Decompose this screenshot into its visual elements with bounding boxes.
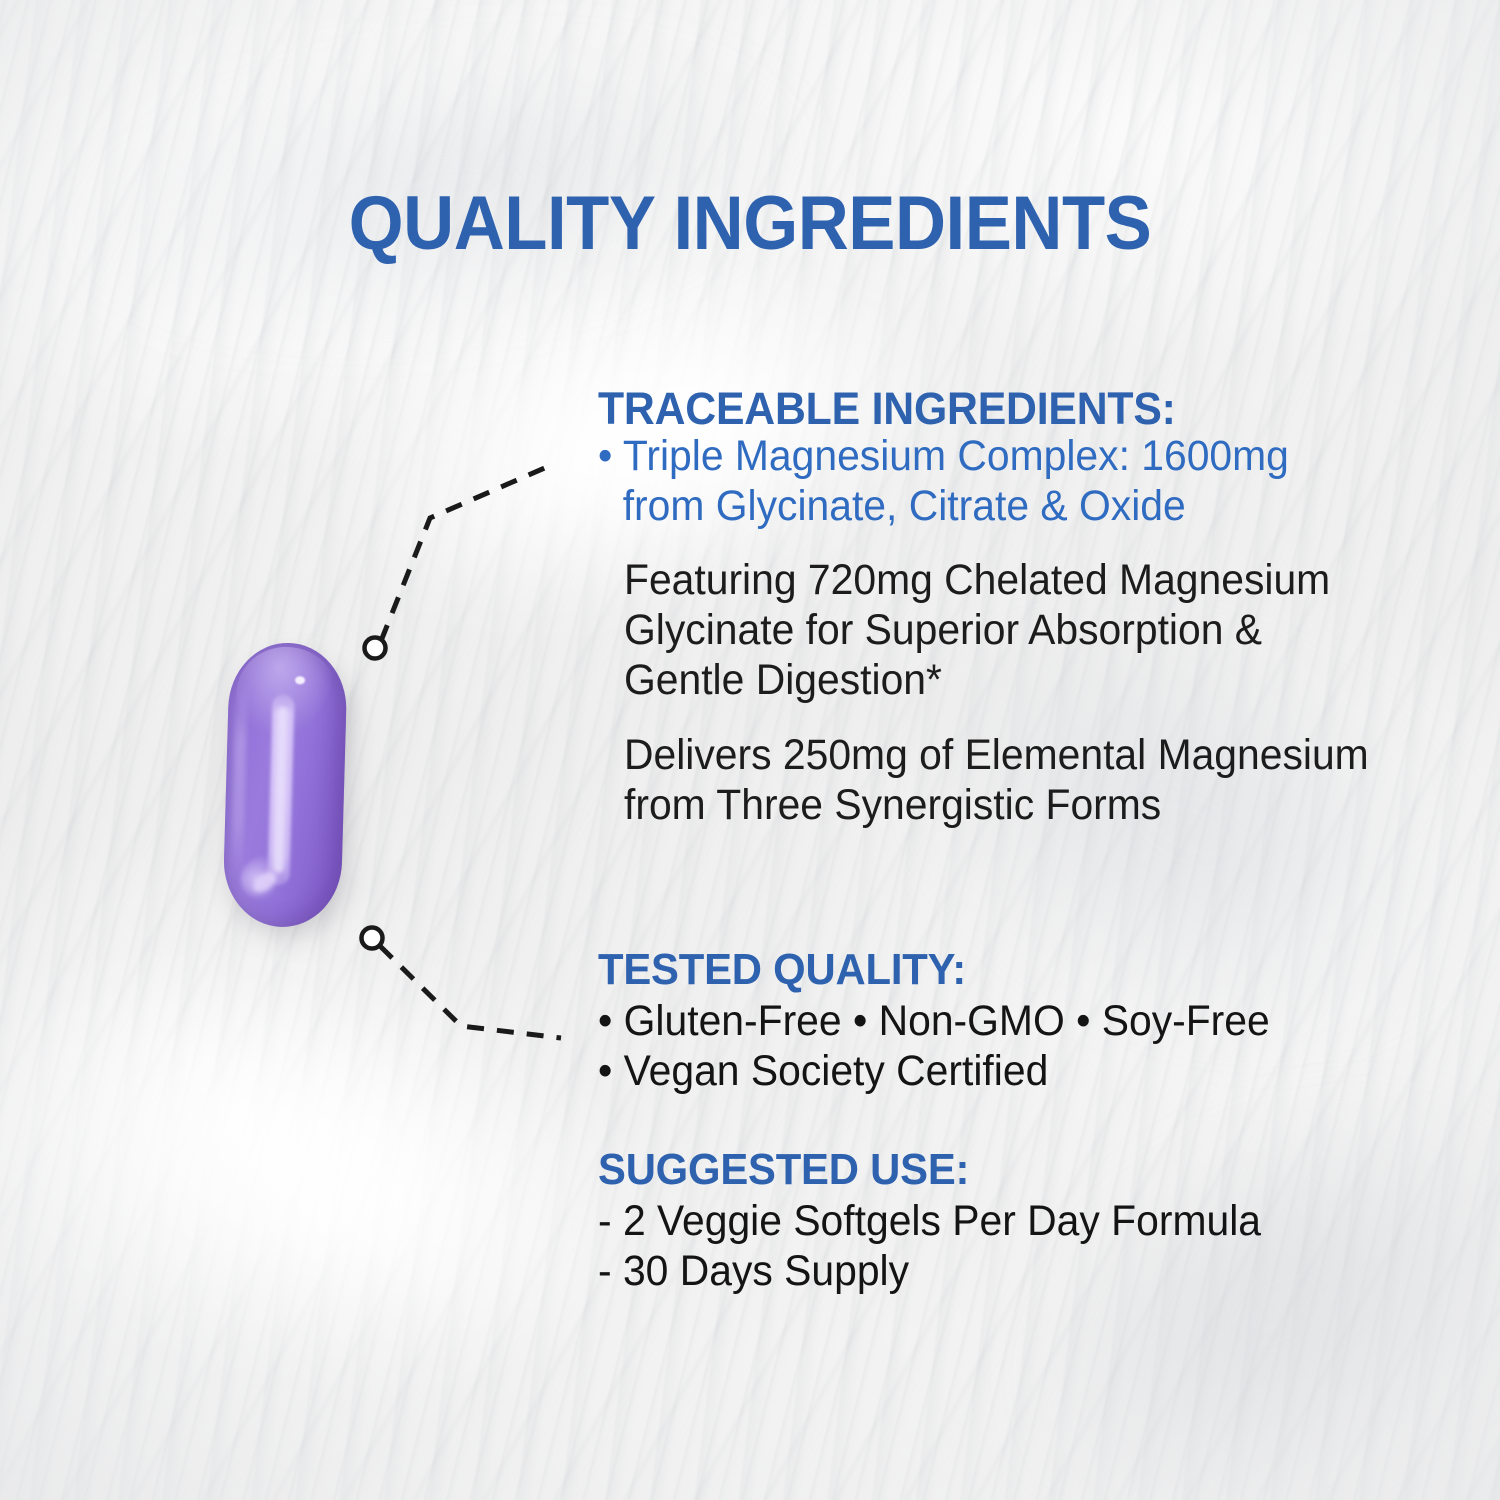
section-heading-tested: TESTED QUALITY: (598, 948, 1270, 993)
traceable-detail-line-2: Glycinate for Superior Absorption & (624, 606, 1330, 656)
section-traceable-detail: Featuring 720mg Chelated Magnesium Glyci… (624, 556, 1367, 706)
traceable-delivers-line-1: Delivers 250mg of Elemental Magnesium (624, 731, 1369, 781)
section-traceable-ingredients: TRACEABLE INGREDIENTS: • Triple Magnesiu… (598, 386, 1325, 532)
capsule-image (222, 641, 354, 936)
traceable-bullet-line-2: from Glycinate, Citrate & Oxide (598, 482, 1289, 532)
traceable-delivers-line-2: from Three Synergistic Forms (624, 781, 1369, 831)
traceable-detail-line-3: Gentle Digestion* (624, 656, 1330, 706)
tested-line-1: • Gluten-Free • Non-GMO • Soy-Free (598, 997, 1270, 1047)
tested-line-2: • Vegan Society Certified (598, 1047, 1270, 1097)
page-title: QUALITY INGREDIENTS (53, 186, 1448, 262)
section-traceable-delivers: Delivers 250mg of Elemental Magnesium fr… (624, 731, 1408, 831)
section-heading-suggested: SUGGESTED USE: (598, 1148, 1261, 1193)
traceable-detail-line-1: Featuring 720mg Chelated Magnesium (624, 556, 1330, 606)
infographic-canvas: QUALITY INGREDIENTS TRACEABLE INGREDIENT… (0, 0, 1500, 1500)
section-heading-traceable: TRACEABLE INGREDIENTS: (598, 386, 1289, 432)
suggested-line-2: - 30 Days Supply (598, 1247, 1261, 1297)
suggested-line-1: - 2 Veggie Softgels Per Day Formula (598, 1197, 1261, 1247)
section-tested-quality: TESTED QUALITY: • Gluten-Free • Non-GMO … (598, 948, 1305, 1097)
traceable-bullet-line-1: • Triple Magnesium Complex: 1600mg (598, 432, 1289, 482)
section-suggested-use: SUGGESTED USE: - 2 Veggie Softgels Per D… (598, 1148, 1296, 1297)
capsule-body (222, 641, 348, 928)
